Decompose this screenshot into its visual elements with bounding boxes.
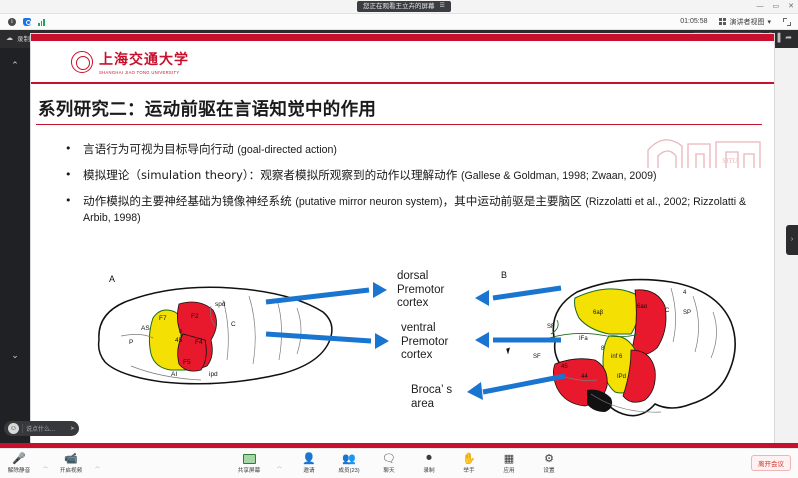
- start-video-label: 开启视频: [60, 466, 82, 474]
- bullet-text-en: (goal-directed action): [237, 144, 337, 156]
- chevron-up-icon[interactable]: ⌃: [8, 58, 22, 72]
- meeting-toolbar: 🎤 解除静音 ︿ 📹 开启视频 ︿ 共享屏幕 ︿ 👤 邀请 👥 成员(23): [0, 448, 798, 478]
- left-side-rail: ⌃ ⌄: [0, 48, 30, 445]
- list-item: 模拟理论（simulation theory）：观察者模拟所观察到的动作以理解动…: [59, 168, 759, 184]
- view-mode-selector[interactable]: 演讲者视图 ▾: [716, 16, 774, 28]
- callout-dorsal-premotor: dorsal Premotor cortex: [397, 270, 444, 311]
- microphone-muted-icon: 🎤: [12, 452, 26, 465]
- reaction-input-placeholder[interactable]: 说点什么...: [22, 424, 55, 433]
- viewing-screen-label: 您正在观看王立卉的屏幕: [363, 1, 435, 12]
- invite-person-icon: 👤: [302, 452, 316, 465]
- fullscreen-icon[interactable]: [783, 18, 791, 26]
- apps-button[interactable]: ▦ 应用: [496, 452, 522, 474]
- bullet-text-zh: 言语行为可视为目标导向行动: [83, 142, 237, 156]
- participants-button[interactable]: 👥 成员(23): [336, 452, 362, 474]
- screen-share-icon: [242, 452, 255, 465]
- network-signal-icon[interactable]: [38, 18, 45, 26]
- apps-grid-icon: ▦: [504, 452, 514, 465]
- toolbar-center-group: 共享屏幕 ︿ 👤 邀请 👥 成员(23) 🗨 聊天 ⏺ 录制 ✋ 举手: [236, 452, 562, 474]
- slide-title: 系列研究二：运动前驱在言语知觉中的作用: [38, 96, 376, 121]
- chat-button[interactable]: 🗨 聊天: [376, 452, 402, 474]
- cloud-icon: ☁: [6, 34, 13, 42]
- os-title-bar: 您正在观看王立卉的屏幕 ☰ — ▭ ✕: [0, 0, 798, 14]
- speaker-view-icon: [719, 18, 726, 25]
- callout-ventral-premotor: ventral Premotor cortex: [401, 322, 448, 363]
- send-icon[interactable]: ➤: [70, 425, 75, 432]
- record-circle-icon: ⏺: [426, 452, 432, 465]
- collapse-icon[interactable]: ☰: [440, 1, 445, 12]
- participants-label: 成员(23): [338, 466, 359, 474]
- bullet-text-zh: 模拟理论（simulation theory）：观察者模拟所观察到的动作以理解动…: [83, 168, 461, 182]
- chevron-down-icon: ▾: [767, 18, 771, 26]
- encryption-shield-icon[interactable]: [23, 18, 31, 26]
- slide-bullet-list: 言语行为可视为目标导向行动 (goal-directed action) 模拟理…: [59, 142, 759, 236]
- camera-off-icon: 📹: [64, 452, 78, 465]
- list-item: 动作模拟的主要神经基础为镜像神经系统 (putative mirror neur…: [59, 194, 759, 226]
- university-name-en: SHANGHAI JIAO TONG UNIVERSITY: [99, 70, 189, 75]
- toolbar-left-group: 🎤 解除静音 ︿ 📹 开启视频 ︿: [6, 452, 100, 474]
- share-screen-label: 共享屏幕: [238, 466, 260, 474]
- sjtu-seal-icon: [71, 51, 93, 73]
- bullet-text-zh: 动作模拟的主要神经基础为镜像神经系统: [83, 194, 295, 208]
- view-mode-label: 演讲者视图: [729, 17, 764, 27]
- list-item: 言语行为可视为目标导向行动 (goal-directed action): [59, 142, 759, 158]
- record-button[interactable]: ⏺ 录制: [416, 452, 442, 474]
- shared-screen-content: 上海交通大学 SHANGHAI JIAO TONG UNIVERSITY 系列研…: [30, 33, 775, 445]
- bullet-text-en: (Gallese & Goldman, 1998; Zwaan, 2009): [461, 170, 657, 182]
- raise-hand-button[interactable]: ✋ 举手: [456, 452, 482, 474]
- share-screen-button[interactable]: 共享屏幕: [236, 452, 262, 474]
- settings-button[interactable]: ⚙ 设置: [536, 452, 562, 474]
- university-logo: 上海交通大学 SHANGHAI JIAO TONG UNIVERSITY: [31, 49, 189, 75]
- audio-options-caret-icon[interactable]: ︿: [43, 463, 48, 470]
- start-video-button[interactable]: 📹 开启视频: [58, 452, 84, 474]
- slide-body: 系列研究二：运动前驱在言语知觉中的作用 SJTU 言语行为可视为目标导向行动 (…: [31, 86, 775, 438]
- raise-hand-icon: ✋: [462, 452, 476, 465]
- apps-label: 应用: [503, 466, 514, 474]
- chevron-down-icon[interactable]: ⌄: [8, 348, 22, 362]
- chat-bubble-icon: 🗨: [382, 452, 396, 465]
- leave-meeting-button[interactable]: 离开会议: [751, 455, 791, 471]
- slide-header: 上海交通大学 SHANGHAI JIAO TONG UNIVERSITY: [31, 41, 775, 84]
- meeting-timer: 01:05:58: [680, 18, 707, 25]
- meeting-top-bar: i 01:05:58 演讲者视图 ▾: [0, 14, 798, 30]
- share-options-caret-icon[interactable]: ︿: [277, 463, 282, 470]
- unmute-button[interactable]: 🎤 解除静音: [6, 452, 32, 474]
- unmute-label: 解除静音: [8, 466, 30, 474]
- meeting-top-right: 01:05:58 演讲者视图 ▾: [680, 16, 798, 28]
- meeting-status-icons: i: [0, 18, 45, 26]
- pin-icon[interactable]: ➦: [785, 33, 792, 42]
- right-panel-toggle[interactable]: ›: [786, 225, 798, 255]
- chevron-right-icon: ›: [791, 236, 793, 243]
- minimize-button[interactable]: —: [757, 2, 764, 11]
- brain-figure: A B: [31, 268, 775, 438]
- raise-hand-label: 举手: [463, 466, 474, 474]
- title-divider: [36, 124, 762, 125]
- slide-top-band: [31, 34, 775, 41]
- reaction-input-bar[interactable]: ☺ 说点什么... ➤: [4, 421, 79, 436]
- bullet-text-zh2: ，其中运动前驱是主要脑区: [443, 194, 586, 208]
- settings-label: 设置: [543, 466, 554, 474]
- invite-label: 邀请: [303, 466, 314, 474]
- participants-icon: 👥: [342, 452, 356, 465]
- video-options-caret-icon[interactable]: ︿: [95, 463, 100, 470]
- maximize-button[interactable]: ▭: [773, 2, 780, 11]
- window-controls: — ▭ ✕: [757, 2, 795, 11]
- record-label: 录制: [423, 466, 434, 474]
- bullet-text-en: (putative mirror neuron system): [295, 196, 442, 208]
- university-name-zh: 上海交通大学: [99, 49, 189, 69]
- zoom-meeting-window: 您正在观看王立卉的屏幕 ☰ — ▭ ✕ i 01:05:58 演讲者视图 ▾ ☁: [0, 0, 798, 478]
- chat-label: 聊天: [383, 466, 394, 474]
- close-button[interactable]: ✕: [788, 2, 794, 11]
- smiley-icon[interactable]: ☺: [8, 423, 19, 434]
- invite-button[interactable]: 👤 邀请: [296, 452, 322, 474]
- callout-brocas-area: Broca’ s area: [411, 384, 452, 411]
- gear-icon: ⚙: [544, 452, 554, 465]
- info-icon[interactable]: i: [8, 18, 16, 26]
- viewing-screen-notice: 您正在观看王立卉的屏幕 ☰: [357, 1, 451, 12]
